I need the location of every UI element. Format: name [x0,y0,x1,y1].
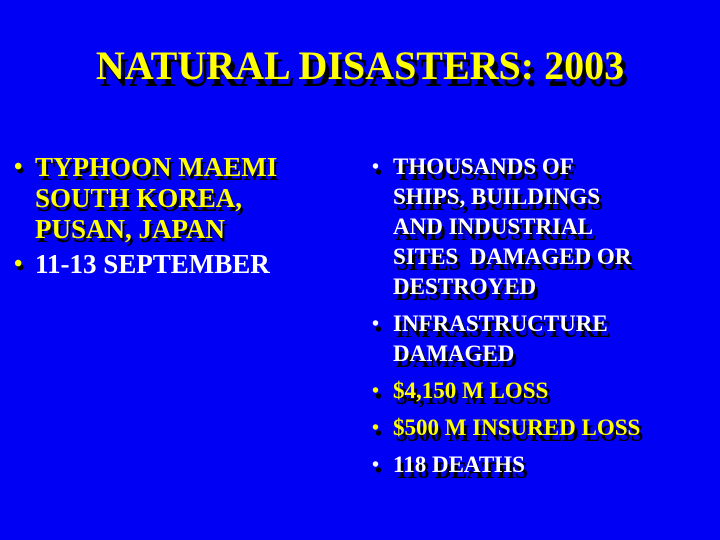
bullet-icon: • [372,376,379,406]
list-item: • THOUSANDS OF SHIPS, BUILDINGS AND INDU… [366,152,720,302]
page-title: NATURAL DISASTERS: 2003 [96,44,624,88]
left-content-column: • TYPHOON MAEMI SOUTH KOREA, PUSAN, JAPA… [8,152,360,284]
list-item-text: INFRASTRUCTURE DAMAGED [393,309,720,369]
slide-body: • TYPHOON MAEMI SOUTH KOREA, PUSAN, JAPA… [0,152,720,540]
list-item: • 11-13 SEPTEMBER [8,249,360,280]
list-item: • 118 DEATHS [366,450,720,480]
bullet-icon: • [372,152,379,182]
list-item-text: 118 DEATHS [393,450,720,480]
list-item-text: THOUSANDS OF SHIPS, BUILDINGS AND INDUST… [393,152,720,302]
list-item-text: 11-13 SEPTEMBER [35,249,360,280]
bullet-icon: • [14,152,22,183]
bullet-icon: • [372,309,379,339]
list-item: • INFRASTRUCTURE DAMAGED [366,309,720,369]
bullet-icon: • [372,450,379,480]
slide-title-block: NATURAL DISASTERS: 2003 [0,44,720,88]
list-item-text: $500 M INSURED LOSS [393,413,720,443]
list-item: • $4,150 M LOSS [366,376,720,406]
bullet-icon: • [14,249,22,280]
list-item-text: TYPHOON MAEMI SOUTH KOREA, PUSAN, JAPAN [35,152,360,245]
list-item: • $500 M INSURED LOSS [366,413,720,443]
list-item-text: $4,150 M LOSS [393,376,720,406]
right-content-column: • THOUSANDS OF SHIPS, BUILDINGS AND INDU… [366,152,720,487]
presentation-slide: NATURAL DISASTERS: 2003 • TYPHOON MAEMI … [0,0,720,540]
list-item: • TYPHOON MAEMI SOUTH KOREA, PUSAN, JAPA… [8,152,360,245]
bullet-icon: • [372,413,379,443]
